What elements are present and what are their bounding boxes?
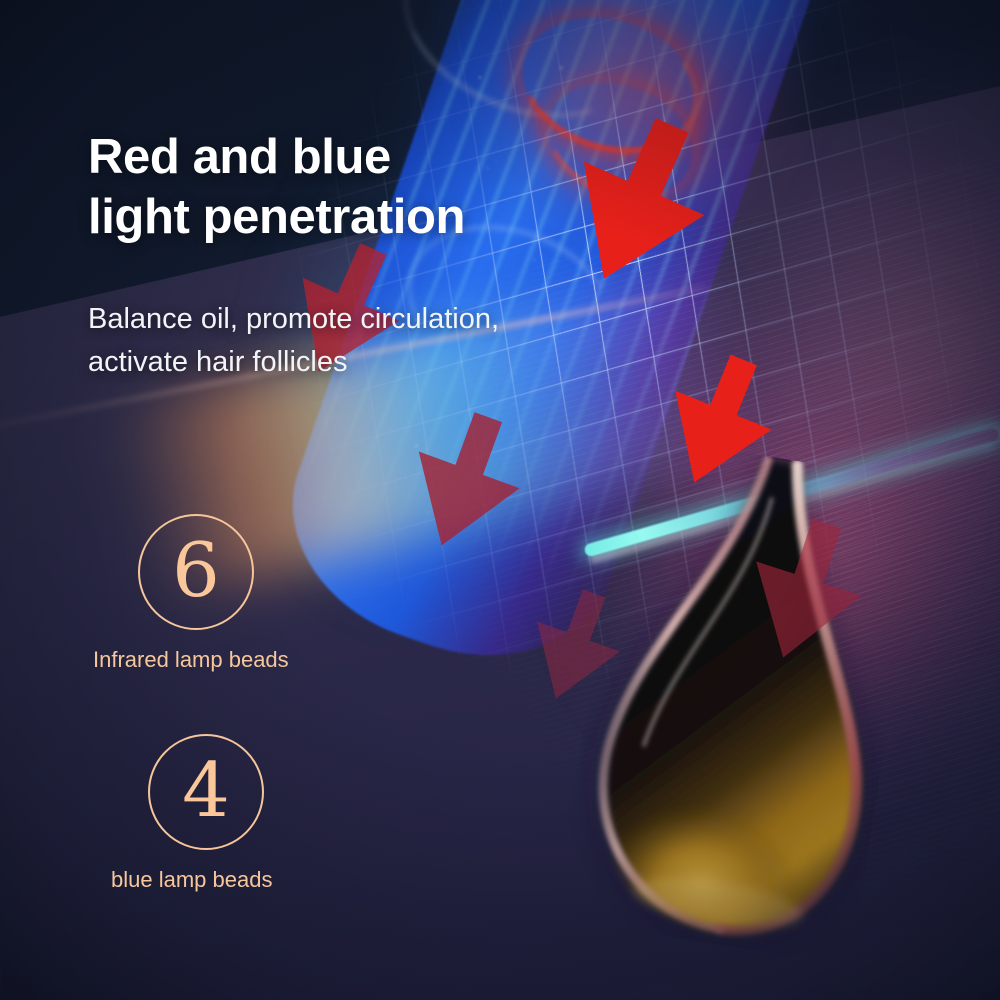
headline-line-1: Red and blue (88, 130, 391, 184)
product-infographic: Red and blue light penetration Balance o… (0, 0, 1000, 1000)
page-title: Red and blue light penetration (88, 128, 558, 248)
stat-label-blue: blue lamp beads (111, 867, 272, 893)
stat-blue-lamp-beads: 4 blue lamp beads (148, 734, 272, 893)
headline-line-2: light penetration (88, 188, 558, 248)
stat-circle-infrared: 6 (138, 514, 254, 630)
stat-number-infrared: 6 (172, 533, 220, 608)
subtitle-description: Balance oil, promote circulation, activa… (88, 298, 508, 384)
stat-infrared-lamp-beads: 6 Infrared lamp beads (138, 514, 289, 673)
stat-number-blue: 4 (182, 753, 230, 828)
stat-circle-blue: 4 (148, 734, 264, 850)
stat-label-infrared: Infrared lamp beads (93, 647, 289, 673)
